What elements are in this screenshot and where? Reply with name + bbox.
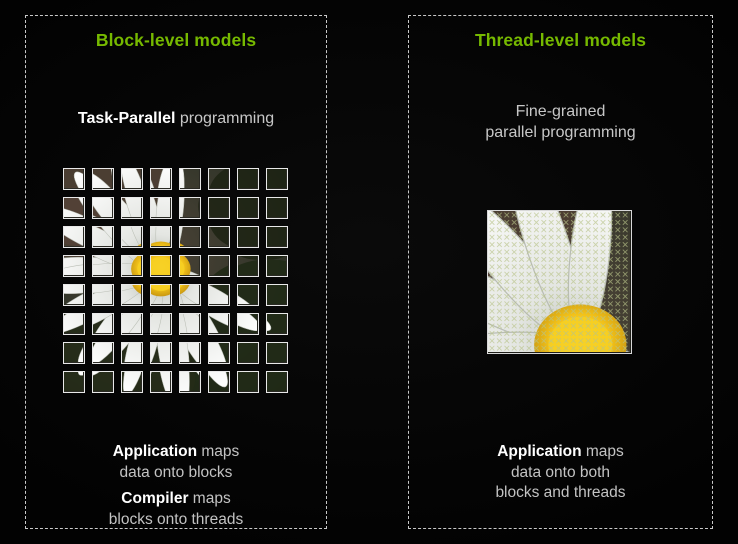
block-tile (208, 226, 230, 248)
block-tile (121, 197, 143, 219)
block-tile (237, 168, 259, 190)
block-tile (266, 197, 288, 219)
footer-text: maps (188, 490, 230, 507)
block-tile (237, 371, 259, 393)
block-tile (179, 342, 201, 364)
block-tile (208, 284, 230, 306)
block-tile (208, 168, 230, 190)
footer-line: blocks and threads (409, 483, 712, 504)
block-tile (150, 255, 172, 277)
block-tile (266, 342, 288, 364)
block-tile (92, 371, 114, 393)
thread-image-container (487, 210, 632, 354)
block-tile (63, 371, 85, 393)
footer-text: blocks onto threads (109, 511, 243, 528)
block-tile (179, 226, 201, 248)
block-tile (208, 313, 230, 335)
block-tile (121, 255, 143, 277)
block-tile (237, 313, 259, 335)
block-tile-grid (63, 168, 291, 400)
block-tile (237, 197, 259, 219)
block-tile (92, 226, 114, 248)
footer-emphasis: Application (113, 443, 197, 460)
block-tile (266, 284, 288, 306)
footer-line: Compiler maps (26, 489, 326, 510)
block-tile (150, 197, 172, 219)
block-tile (63, 197, 85, 219)
block-tile (179, 197, 201, 219)
block-tile (63, 284, 85, 306)
block-tile (121, 371, 143, 393)
footer-text: maps (197, 443, 239, 460)
footer-emphasis: Compiler (121, 490, 188, 507)
block-tile (266, 255, 288, 277)
block-tile (179, 284, 201, 306)
block-tile (208, 255, 230, 277)
panel-title-block-level: Block-level models (26, 30, 326, 51)
block-tile (121, 342, 143, 364)
block-tile (179, 313, 201, 335)
panel-footer-thread-level: Application maps data onto both blocks a… (409, 442, 712, 504)
block-tile (150, 284, 172, 306)
block-tile (179, 255, 201, 277)
block-tile (150, 371, 172, 393)
block-tile (92, 197, 114, 219)
block-tile (92, 342, 114, 364)
footer-text: maps (582, 443, 624, 460)
block-tile (266, 226, 288, 248)
block-tile (92, 284, 114, 306)
panel-subtitle-thread-level: Fine-grained parallel programming (409, 101, 712, 143)
block-tile (63, 342, 85, 364)
block-tile (237, 284, 259, 306)
block-tile (208, 342, 230, 364)
panel-subtitle-block-level: Task-Parallel programming (26, 108, 326, 129)
panel-block-level: Block-level models Task-Parallel program… (25, 15, 327, 529)
block-tile (208, 371, 230, 393)
block-tile (121, 226, 143, 248)
footer-text: blocks and threads (495, 484, 625, 501)
subtitle-line: parallel programming (409, 122, 712, 143)
block-tile (92, 168, 114, 190)
block-tile (237, 226, 259, 248)
block-tile (63, 313, 85, 335)
block-tile (92, 313, 114, 335)
footer-emphasis: Application (497, 443, 581, 460)
block-tile (266, 313, 288, 335)
block-tile (150, 226, 172, 248)
block-tile (266, 168, 288, 190)
panel-title-thread-level: Thread-level models (409, 30, 712, 51)
block-tile (121, 168, 143, 190)
footer-text: data onto blocks (120, 464, 233, 481)
panel-footer-block-level: Application maps data onto blocks Compil… (26, 442, 326, 530)
panel-thread-level: Thread-level models Fine-grained paralle… (408, 15, 713, 529)
block-tile (237, 342, 259, 364)
footer-line: data onto both (409, 463, 712, 484)
block-tile (121, 284, 143, 306)
block-tile (92, 255, 114, 277)
block-tile (179, 168, 201, 190)
subtitle-emphasis: Task-Parallel (78, 110, 176, 127)
block-tile (150, 342, 172, 364)
subtitle-rest: programming (175, 110, 274, 127)
block-tile (63, 226, 85, 248)
block-tile (121, 313, 143, 335)
thread-flower-image (487, 210, 632, 354)
block-tile (150, 168, 172, 190)
block-tile (150, 313, 172, 335)
block-tile (63, 255, 85, 277)
block-tile (266, 371, 288, 393)
block-tile (237, 255, 259, 277)
footer-line: Application maps (26, 442, 326, 463)
footer-line: Application maps (409, 442, 712, 463)
footer-line: data onto blocks (26, 463, 326, 484)
block-tile (63, 168, 85, 190)
subtitle-line: Fine-grained (409, 101, 712, 122)
footer-line: blocks onto threads (26, 510, 326, 531)
footer-text: data onto both (511, 464, 610, 481)
block-tile (179, 371, 201, 393)
slide-canvas: Block-level models Task-Parallel program… (0, 0, 738, 544)
block-tile (208, 197, 230, 219)
